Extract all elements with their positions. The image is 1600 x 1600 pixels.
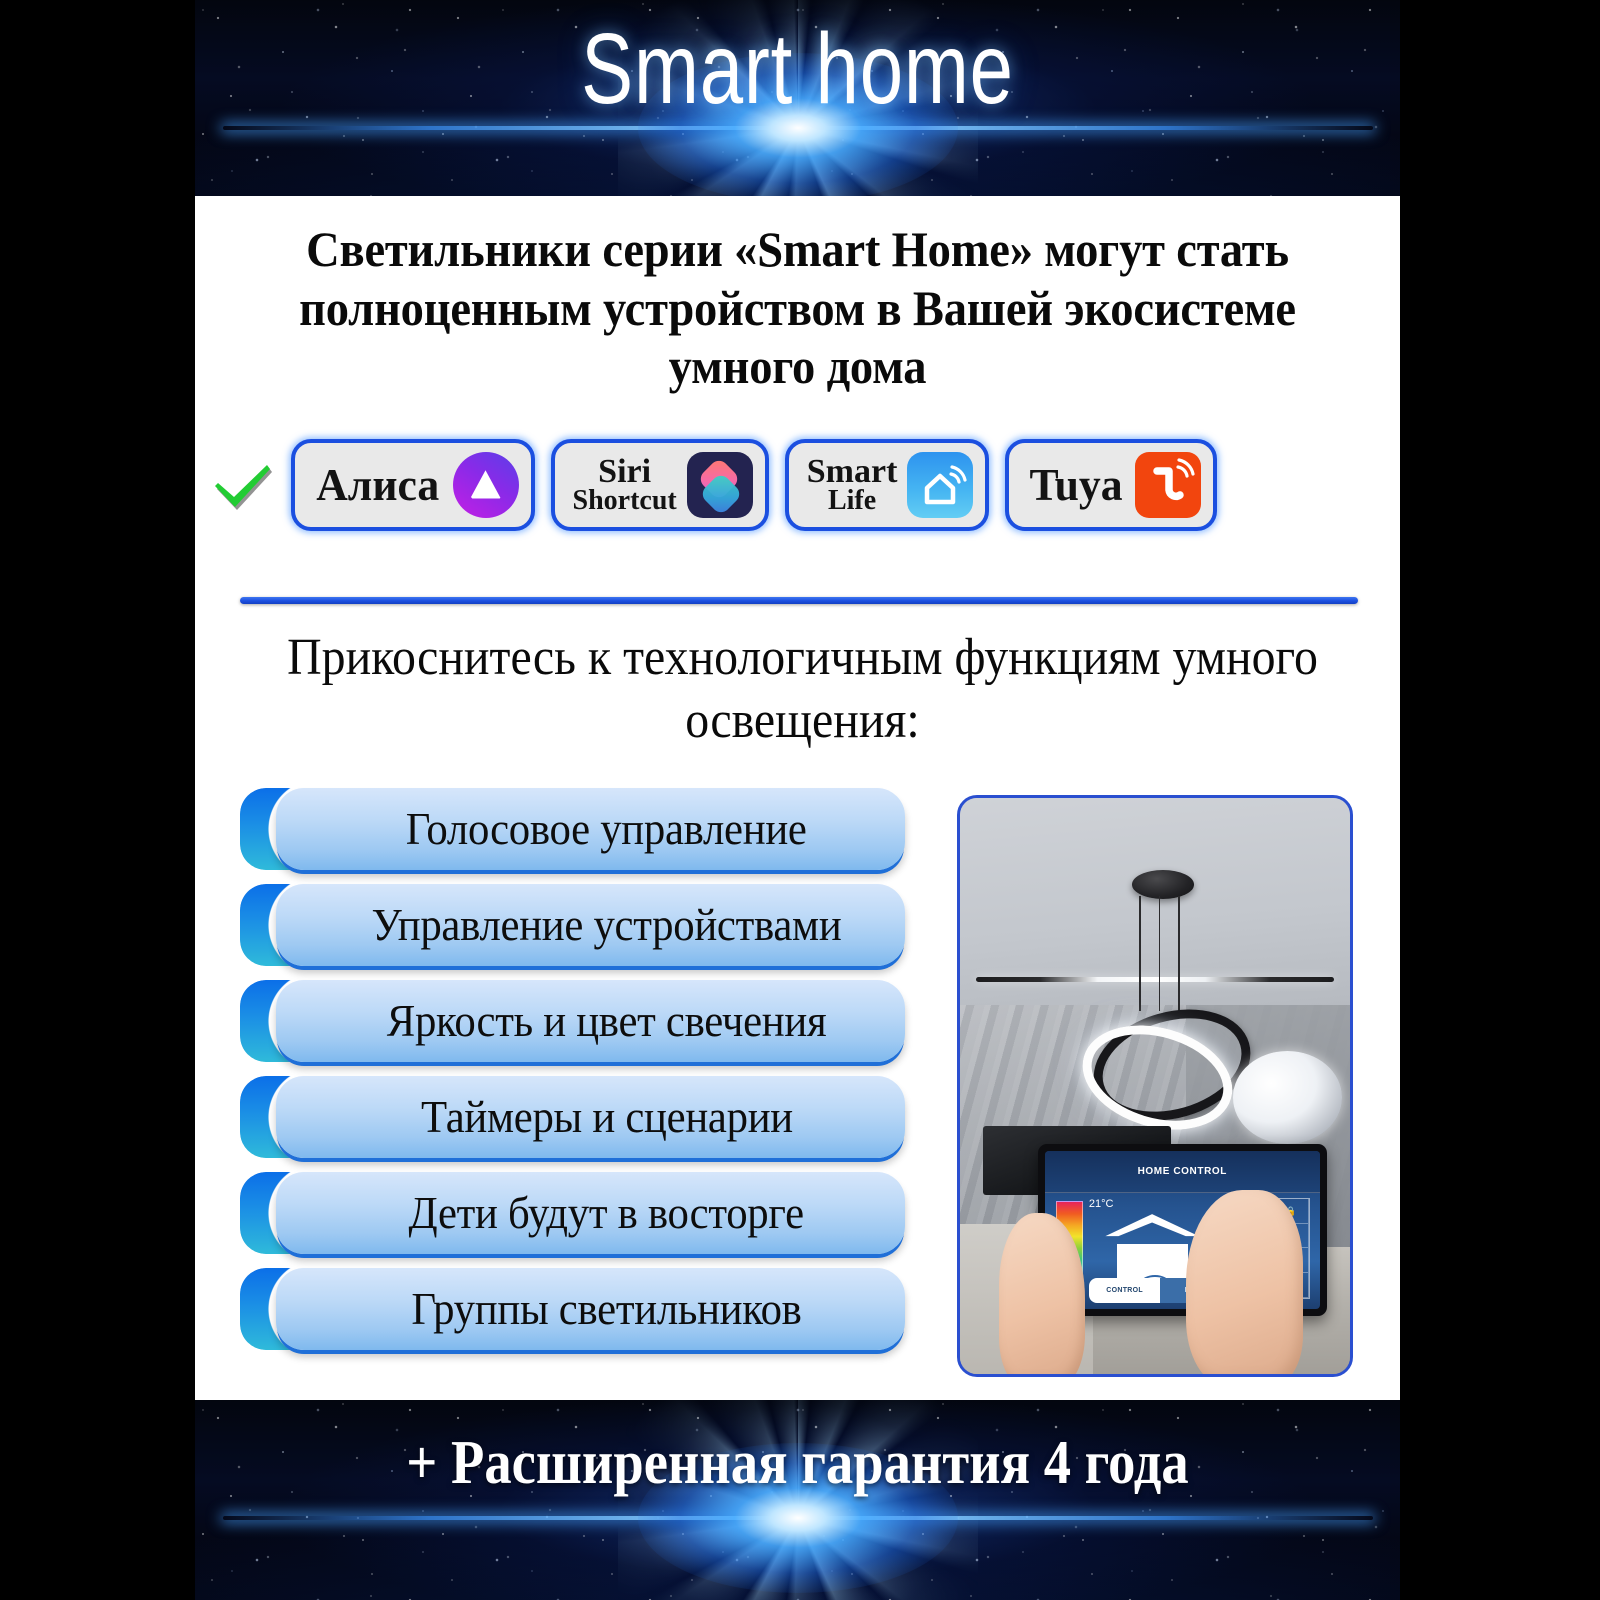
tuya-logo-icon: [1135, 452, 1201, 518]
header-title: Smart home: [328, 18, 1268, 120]
tablet-control-button[interactable]: CONTROL: [1089, 1287, 1160, 1294]
lead-heading: Светильники серии «Smart Home» могут ста…: [254, 220, 1341, 396]
list-item-label: Яркость и цвет свечения: [355, 995, 827, 1047]
footer-banner: + Расширенная гарантия 4 года: [195, 1400, 1400, 1600]
badge-tuya-label: Tuya: [1030, 462, 1123, 508]
list-item[interactable]: Управление устройствами: [240, 884, 905, 966]
badge-smart-life-label-line2: Life: [807, 487, 898, 515]
photo-left-hand: [999, 1213, 1085, 1377]
list-item[interactable]: Таймеры и сценарии: [240, 1076, 905, 1158]
tablet-header: HOME CONTROL: [1045, 1151, 1320, 1193]
alice-logo-icon: [453, 452, 519, 518]
tablet-header-label: HOME CONTROL: [1138, 1166, 1227, 1177]
green-check-icon: [209, 452, 275, 518]
photo-lamp-wire: [1139, 896, 1141, 1011]
list-item-label: Дети будут в восторге: [377, 1187, 805, 1239]
siri-shortcuts-logo-icon: [687, 452, 753, 518]
photo-ceiling: [960, 798, 1350, 1028]
photo-lamp-wire: [1178, 896, 1180, 1011]
badge-alice-label: Алиса: [316, 462, 439, 508]
list-item-label: Группы светильников: [379, 1283, 801, 1335]
section-divider: [240, 597, 1358, 604]
list-item[interactable]: Дети будут в восторге: [240, 1172, 905, 1254]
photo-ceiling-light-strip: [976, 977, 1335, 982]
feature-list: Голосовое управление Управление устройст…: [240, 788, 905, 1364]
badge-smart-life-label: Smart Life: [807, 455, 898, 515]
infographic-page: Smart home Светильники серии «Smart Home…: [0, 0, 1600, 1600]
product-photo: HOME CONTROL 21°C ⌂ 🔒 💡 💧 📷 🌡: [957, 795, 1353, 1377]
list-item[interactable]: Голосовое управление: [240, 788, 905, 870]
content-panel: Светильники серии «Smart Home» могут ста…: [195, 196, 1400, 1400]
footer-title: + Расширенная гарантия 4 года: [267, 1428, 1327, 1499]
badge-alice[interactable]: Алиса: [291, 439, 535, 531]
badge-smart-life-label-line1: Smart: [807, 455, 898, 489]
smart-life-logo-icon: [907, 452, 973, 518]
photo-lamp-canopy: [1132, 870, 1194, 899]
ecosystem-badge-row: Алиса Siri Shortcut Smart Life: [203, 435, 1394, 535]
badge-siri-label-line1: Siri: [573, 455, 677, 489]
list-item[interactable]: Яркость и цвет свечения: [240, 980, 905, 1062]
list-item-label: Таймеры и сценарии: [388, 1091, 792, 1143]
badge-tuya[interactable]: Tuya: [1005, 439, 1217, 531]
photo-wall-lamp: [1233, 1051, 1342, 1143]
badge-siri-shortcut[interactable]: Siri Shortcut: [551, 439, 769, 531]
photo-right-hand: [1186, 1190, 1303, 1377]
tablet-temperature-value: 21°C: [1089, 1198, 1114, 1210]
list-item[interactable]: Группы светильников: [240, 1268, 905, 1350]
badge-siri-label-line2: Shortcut: [573, 487, 677, 515]
badge-siri-label: Siri Shortcut: [573, 455, 677, 515]
section-subheading: Прикоснитесь к технологичным функциям ум…: [280, 626, 1324, 753]
header-banner: Smart home: [195, 0, 1400, 196]
list-item-label: Управление устройствами: [339, 899, 841, 951]
list-item-label: Голосовое управление: [374, 803, 807, 855]
badge-smart-life[interactable]: Smart Life: [785, 439, 990, 531]
photo-lamp-wire: [1159, 896, 1161, 1011]
